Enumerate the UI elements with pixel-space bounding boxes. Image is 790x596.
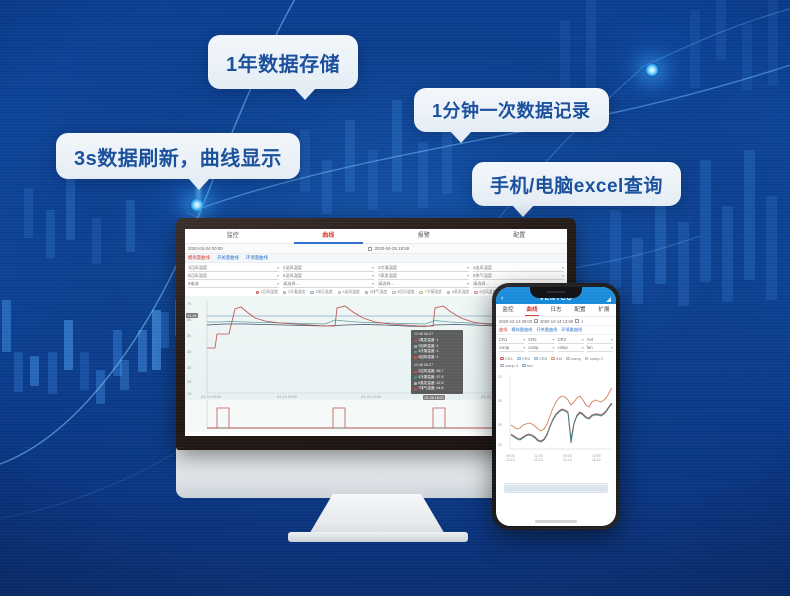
date-from-input[interactable]: 2020-04-24 00:00 [188, 246, 368, 251]
selector[interactable]: 3冷凝温度▾ [378, 264, 469, 272]
phone-selector[interactable]: CR3▾ [558, 336, 584, 344]
selector-label: 请选择... [283, 281, 299, 287]
selector[interactable]: 请选择...▾ [283, 280, 374, 288]
subtab-analog[interactable]: 模拟量曲线 [188, 255, 210, 261]
legend-item[interactable]: comp 3 [500, 363, 518, 368]
phone-subtab-switch[interactable]: 开关量曲线 [536, 327, 557, 333]
callout-refresh: 3s数据刷新，曲线显示 [56, 133, 300, 179]
subtab-env[interactable]: 环境量曲线 [246, 255, 268, 261]
selector[interactable]: 7蒸发温度▾ [378, 272, 469, 280]
phone-selector[interactable]: CR2▾ [528, 336, 554, 344]
legend-item[interactable]: 6回风湿度 [392, 290, 414, 295]
chevron-down-icon: ▾ [467, 281, 469, 286]
subtab-switch[interactable]: 开关量曲线 [217, 255, 239, 261]
callout-export-label: 手机/电脑excel查询 [490, 171, 663, 198]
callout-refresh-label: 3s数据刷新，曲线显示 [74, 142, 282, 171]
legend-item[interactable]: fan [522, 363, 533, 368]
desktop-subtabs: 模拟量曲线 开关量曲线 环境量曲线 [185, 254, 567, 263]
tab-alarm[interactable]: 报警 [376, 229, 472, 243]
chevron-down-icon: ▾ [467, 273, 469, 278]
phone-notch [530, 287, 582, 298]
legend-item[interactable]: 7冷凝湿度 [419, 290, 441, 295]
monitor-stand [308, 494, 446, 536]
mobile-phone: ‹ VENTCO 监控 曲线 日志 配置 扩展 2020-12-13 00:00… [492, 283, 620, 530]
promo-banner: 1年数据存储 1分钟一次数据记录 3s数据刷新，曲线显示 手机/电脑excel查… [0, 0, 790, 596]
chevron-down-icon: ▾ [523, 337, 525, 342]
selector-label: 9电流 [188, 281, 199, 287]
chevron-down-icon: ▾ [582, 337, 584, 342]
home-indicator [535, 520, 577, 523]
chevron-down-icon: ▾ [372, 265, 374, 270]
selector-label: 3冷凝温度 [378, 265, 397, 271]
phone-tabbar: 监控 曲线 日志 配置 扩展 [496, 304, 616, 317]
selector[interactable]: 9电流▾ [188, 280, 279, 288]
phone-selector[interactable]: fan▾ [587, 344, 613, 352]
chevron-down-icon: ▾ [372, 281, 374, 286]
x-tick: 00:0012-13 [506, 455, 515, 463]
phone-selector[interactable]: CR1▾ [499, 336, 525, 344]
phone-date-range: 2020-12-13 00:00 2020-12-14 13:59 ⌕ [496, 317, 616, 326]
tab-curve[interactable]: 曲线 [281, 229, 377, 243]
legend-item[interactable]: CR2 [517, 356, 530, 361]
selector-label: 7蒸发温度 [378, 273, 397, 279]
wifi-icon [606, 297, 611, 302]
legend-item[interactable]: 3电压温度 [310, 290, 332, 295]
chevron-down-icon: ▾ [562, 273, 564, 278]
x-tick: 04-24 06:00 [277, 395, 297, 399]
selector[interactable]: 8排气温度▾ [473, 272, 564, 280]
selector-label: 5回风湿度 [188, 273, 207, 279]
phone-subtabs: 曲线 模拟量曲线 开关量曲线 环境量曲线 [496, 326, 616, 335]
chart-tooltip: 12:46 06-27 1蒸发温度: 1 2回风温度: 1 3冷凝温度: 1 4… [411, 330, 463, 394]
phone-tab-extend[interactable]: 扩展 [592, 304, 616, 316]
x-tick: 04-24 00:00 [201, 395, 221, 399]
search-icon[interactable]: ⌕ [581, 319, 584, 324]
chevron-down-icon: ▾ [552, 337, 554, 342]
phone-tab-curve[interactable]: 曲线 [520, 304, 544, 316]
legend-item[interactable]: 8蒸发温度 [447, 290, 469, 295]
chevron-down-icon: ▾ [523, 345, 525, 350]
phone-body: ‹ VENTCO 监控 曲线 日志 配置 扩展 2020-12-13 00:00… [492, 283, 620, 530]
desktop-tabbar: 监控 曲线 报警 配置 [185, 229, 567, 244]
phone-app-screen: ‹ VENTCO 监控 曲线 日志 配置 扩展 2020-12-13 00:00… [496, 287, 616, 526]
selector-label: 请选择... [378, 281, 394, 287]
phone-speaker [546, 291, 566, 293]
selector[interactable]: 4出风温度▾ [473, 264, 564, 272]
chevron-down-icon: ▾ [467, 265, 469, 270]
glow-node-left [190, 198, 204, 212]
selector-label: 1回风温度 [188, 265, 207, 271]
legend-item[interactable]: 5排气温度 [365, 290, 387, 295]
tooltip-header-1: 12:46 06-27 [414, 332, 460, 338]
legend-item[interactable]: AI4 [551, 356, 562, 361]
legend-item[interactable]: 1回风温度 [256, 290, 278, 295]
legend-item[interactable]: CR3 [534, 356, 547, 361]
phone-range-slider[interactable] [504, 483, 608, 493]
calendar-icon[interactable] [534, 319, 538, 323]
x-tick: 04-24 12:00 [361, 395, 381, 399]
phone-subtab-env[interactable]: 环境量曲线 [561, 327, 582, 333]
selector[interactable]: 6送风湿度▾ [283, 272, 374, 280]
x-tick: 12:0012-13 [534, 455, 543, 463]
phone-tab-log[interactable]: 日志 [544, 304, 568, 316]
date-to-input[interactable]: 2020-04-25 18:59 [374, 246, 409, 251]
slider-fill [506, 485, 606, 491]
calendar-icon[interactable] [575, 319, 579, 323]
chevron-down-icon: ▾ [372, 273, 374, 278]
callout-tail [188, 178, 210, 190]
selector-label: 6送风湿度 [283, 273, 302, 279]
glow-node-right [645, 63, 659, 77]
selector-label: 8排气温度 [473, 273, 492, 279]
callout-interval: 1分钟一次数据记录 [414, 88, 609, 132]
legend-item[interactable]: comp [566, 356, 581, 361]
chevron-down-icon: ▾ [277, 281, 279, 286]
phone-tab-config[interactable]: 配置 [568, 304, 592, 316]
date-to-group: 2020-04-25 18:59 [368, 246, 548, 251]
callout-tail [450, 131, 472, 143]
monitor-base [288, 532, 468, 542]
tab-config[interactable]: 配置 [472, 229, 568, 243]
phone-selector[interactable]: comp▾ [528, 344, 554, 352]
chevron-down-icon: ▾ [552, 345, 554, 350]
calendar-icon[interactable] [368, 247, 372, 251]
chevron-down-icon: ▾ [611, 337, 613, 342]
chevron-down-icon: ▾ [562, 265, 564, 270]
selector-label: 请选择... [473, 281, 489, 287]
phone-chart-svg [496, 371, 614, 463]
phone-selector[interactable]: comp▾ [499, 344, 525, 352]
phone-date-from[interactable]: 2020-12-13 00:00 [499, 319, 532, 324]
chevron-down-icon: ▾ [582, 345, 584, 350]
x-tick: 12:0012-14 [592, 455, 601, 463]
callout-tail [512, 205, 534, 217]
legend-item[interactable]: 4送风温度 [338, 290, 360, 295]
callout-storage: 1年数据存储 [208, 35, 358, 89]
phone-selector[interactable]: AI4▾ [587, 336, 613, 344]
phone-chart-legend: CR1 CR2 CR3 AI4 comp comp 2 comp 3 fan [496, 353, 616, 370]
legend-item[interactable]: CR1 [500, 356, 513, 361]
chevron-down-icon: ▾ [277, 273, 279, 278]
chevron-left-icon[interactable]: ‹ [501, 295, 504, 302]
x-tick: 00:0012-14 [563, 455, 572, 463]
phone-date-to[interactable]: 2020-12-14 13:59 [540, 319, 573, 324]
selector[interactable]: 1回风温度▾ [188, 264, 279, 272]
phone-selector[interactable]: comp▾ [558, 344, 584, 352]
callout-tail [294, 88, 316, 100]
tooltip-row: 7排气温度: 64.8 [414, 386, 460, 392]
callout-storage-label: 1年数据存储 [226, 48, 340, 77]
legend-item[interactable]: 2冷凝温度 [283, 290, 305, 295]
chevron-down-icon: ▾ [611, 345, 613, 350]
callout-export: 手机/电脑excel查询 [472, 162, 681, 206]
phone-subtab-curve[interactable]: 曲线 [499, 327, 507, 333]
phone-tab-monitor[interactable]: 监控 [496, 304, 520, 316]
phone-line-chart[interactable]: 31 30 29 28 00:0012-13 [496, 371, 616, 463]
selector[interactable]: 请选择...▾ [378, 280, 469, 288]
legend-item[interactable]: comp 2 [585, 356, 603, 361]
selector-label: 2送风温度 [283, 265, 302, 271]
phone-subtab-analog[interactable]: 模拟量曲线 [511, 327, 532, 333]
selector-label: 4出风温度 [473, 265, 492, 271]
tab-monitor[interactable]: 监控 [185, 229, 281, 243]
phone-selector-grid: CR1▾ CR2▾ CR3▾ AI4▾ comp▾ comp▾ comp▾ fa… [496, 335, 616, 353]
selector[interactable]: 5回风湿度▾ [188, 272, 279, 280]
desktop-date-range: 2020-04-24 00:00 2020-04-25 18:59 [185, 244, 567, 254]
callout-interval-label: 1分钟一次数据记录 [432, 97, 591, 123]
chevron-down-icon: ▾ [277, 265, 279, 270]
selector[interactable]: 2送风温度▾ [283, 264, 374, 272]
